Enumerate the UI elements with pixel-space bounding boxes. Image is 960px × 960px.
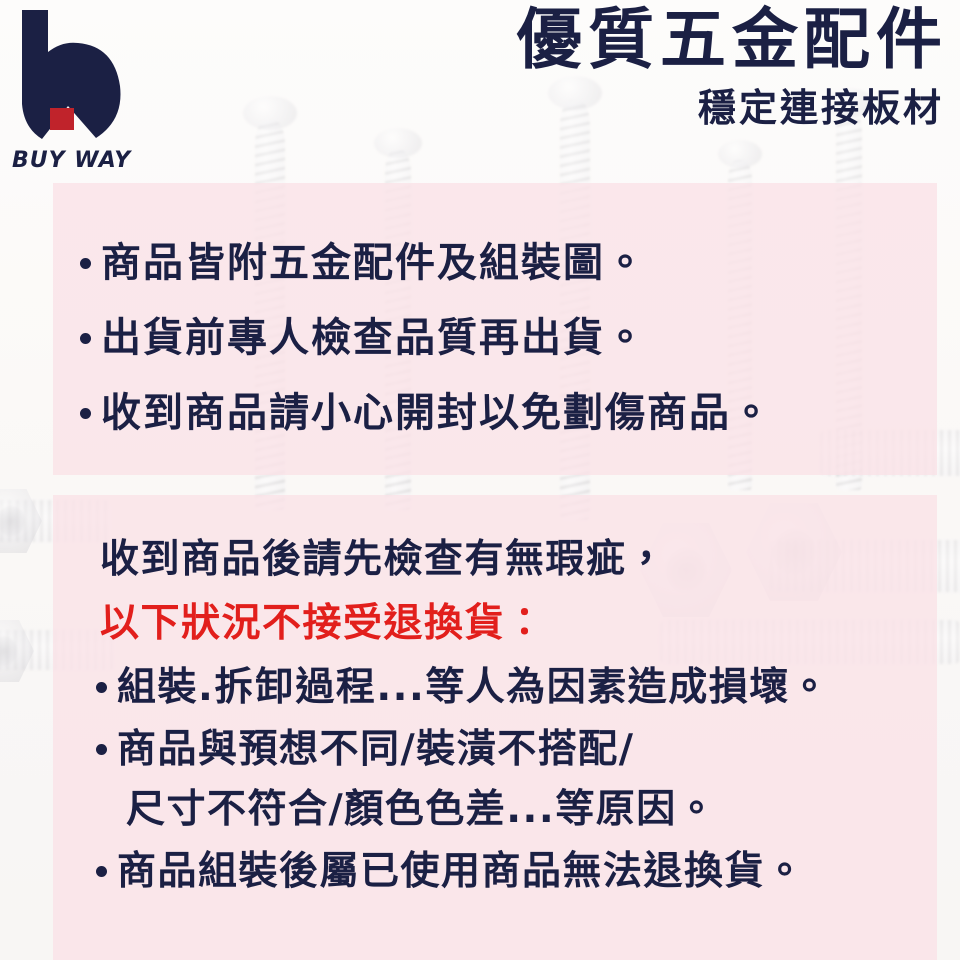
list-item-label: 收到商品請小心開封以免劃傷商品。	[101, 380, 773, 438]
bullet-dot-icon	[80, 258, 91, 269]
poster-canvas: BUY WAY 優質五金配件 穩定連接板材 商品皆附五金配件及組裝圖。 出貨前專…	[0, 0, 960, 960]
list-item: 商品與預想不同/裝潢不搭配/	[96, 718, 635, 774]
list-item-continuation: 尺寸不符合/顏色色差...等原因。	[126, 778, 717, 834]
list-item: 出貨前專人檢查品質再出貨。	[80, 305, 647, 363]
return-policy-warning: 以下狀況不接受退換貨：	[100, 592, 546, 648]
bullet-dot-icon	[96, 682, 107, 693]
poster-content: 商品皆附五金配件及組裝圖。 出貨前專人檢查品質再出貨。 收到商品請小心開封以免劃…	[0, 0, 960, 960]
list-item-label: 出貨前專人檢查品質再出貨。	[101, 305, 647, 363]
list-item-label: 商品組裝後屬已使用商品無法退換貨。	[117, 840, 806, 896]
bullet-dot-icon	[96, 866, 107, 877]
bullet-dot-icon	[80, 408, 91, 419]
list-item: 商品組裝後屬已使用商品無法退換貨。	[96, 840, 806, 896]
bullet-dot-icon	[96, 744, 107, 755]
list-item: 商品皆附五金配件及組裝圖。	[80, 230, 647, 288]
list-item: 收到商品請小心開封以免劃傷商品。	[80, 380, 773, 438]
return-policy-intro: 收到商品後請先檢查有無瑕疵，	[100, 528, 667, 584]
list-item-label: 組裝.拆卸過程...等人為因素造成損壞。	[117, 656, 830, 712]
list-item-label: 商品與預想不同/裝潢不搭配/	[117, 718, 635, 774]
list-item-label: 商品皆附五金配件及組裝圖。	[101, 230, 647, 288]
list-item: 組裝.拆卸過程...等人為因素造成損壞。	[96, 656, 830, 712]
bullet-dot-icon	[80, 333, 91, 344]
